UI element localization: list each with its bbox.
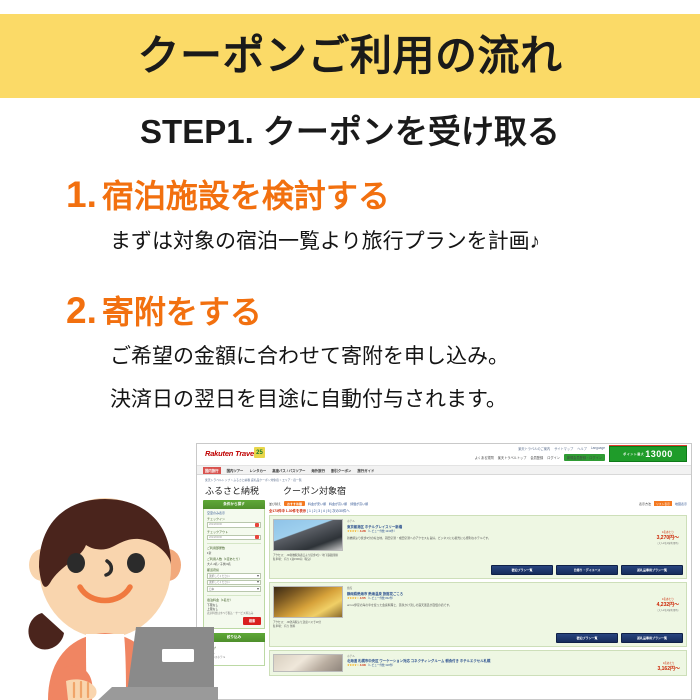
rakuten-travel-logo: Rakuten Travel xyxy=(205,449,256,458)
review-count[interactable]: （レビュー件数 318件） xyxy=(366,664,394,667)
rating-score: 4.28 xyxy=(360,529,366,533)
step-heading: STEP1. クーポンを受け取る xyxy=(0,112,700,152)
card-button-row: 宿泊プラン一覧 日帰り・デイユース 返礼品専用プラン一覧 xyxy=(273,565,683,575)
view-active[interactable]: リスト表示 xyxy=(654,501,672,506)
header-sub-links: よくある質問 楽天トラベルトップ 会員登録 ログイン 新規会員登録・ログイン xyxy=(475,454,605,461)
step-2-label: 寄附をする xyxy=(102,296,262,328)
step-2-number: 2. xyxy=(66,292,97,329)
hotel-description: источ伊豆の海の幸を使った会席料理と、源泉かけ流しの露天風呂が自慢の宿です。 xyxy=(347,603,683,607)
hotel-type-tag: ホテル xyxy=(347,654,683,658)
nav-item-1[interactable]: 国内ツアー xyxy=(227,468,244,473)
nav-item-2[interactable]: レンタカー xyxy=(249,468,266,473)
search-button[interactable]: 検索 xyxy=(243,617,261,625)
price-value: 3,270円～ xyxy=(656,534,680,541)
reward-plans-button[interactable]: 返礼品専用プラン一覧 xyxy=(621,565,683,575)
step-1-row: 1. 宿泊施設を検討する xyxy=(0,176,700,213)
rating-row: ★★★★☆ 4.28 （レビュー件数 1234件） xyxy=(347,529,683,533)
anniversary-badge: 25 xyxy=(254,447,265,458)
hotel-type-tag: 旅館 xyxy=(347,586,683,590)
chevron-down-icon xyxy=(257,588,259,590)
step-1-description: まずは対象の宿泊一覧より旅行プランを計画♪ xyxy=(0,227,700,257)
sort-label: 並び替え xyxy=(269,502,281,506)
review-count[interactable]: （レビュー件数 842件） xyxy=(366,597,394,600)
hotel-meta: アクセス： JR熱海駅より送迎バスで10分 駐車場： 有り 無料 xyxy=(273,621,683,629)
laptop-screen-glare xyxy=(162,649,194,662)
parking-info: 駐車場： 有り 1泊1500円（税込） xyxy=(273,558,683,562)
price-value: 3,162円～ xyxy=(657,665,680,672)
sub-link-3[interactable]: ログイン xyxy=(547,455,560,460)
global-nav: 国内旅行 国内ツアー レンタカー 高速バス / バスツアー 海外旅行 割引クーポ… xyxy=(197,466,691,475)
sub-link-0[interactable]: よくある質問 xyxy=(475,455,494,460)
parking-info: 駐車場： 有り 無料 xyxy=(273,625,683,629)
sub-link-1[interactable]: 楽天トラベルトップ xyxy=(498,455,527,460)
top-link-0[interactable]: 楽天トラベルのご案内 xyxy=(518,446,550,451)
result-count: 全173件中 1-30件を表示 xyxy=(269,509,306,513)
sort-row: 並び替え おすすめ順 料金が安い順 料金が高い順 評価が高い順 表示方法 リスト… xyxy=(269,500,687,507)
step-1-label: 宿泊施設を検討する xyxy=(102,180,390,212)
price-block: 1名あたり 4,232円～ （大人2名1室利用時） xyxy=(656,597,680,612)
hotel-description: 新橋駅より徒歩3分の好立地。羽田空港・成田空港へのアクセスも良好。ビジネスにも観… xyxy=(347,536,683,540)
hotel-meta: アクセス： JR新橋駅烏森口より徒歩3分／地下鉄銀座線 駐車場： 有り 1泊15… xyxy=(273,554,683,562)
price-value: 4,232円～ xyxy=(656,601,680,608)
point-badge-label: ポイント最大 xyxy=(623,452,644,456)
card-top: ホテル 北海道 札幌市中央区 ワーケーション対応 コネクティングルーム 朝食付き… xyxy=(273,654,683,672)
sort-active[interactable]: おすすめ順 xyxy=(284,501,305,506)
results-main: 並び替え おすすめ順 料金が安い順 料金が高い順 評価が高い順 表示方法 リスト… xyxy=(269,500,687,679)
browser-screenshot-mock: Rakuten Travel 25 楽天トラベルのご案内 サイトマップ ヘルプ … xyxy=(196,443,692,700)
hotel-thumbnail[interactable] xyxy=(273,519,343,551)
plans-button[interactable]: 宿泊プラン一覧 xyxy=(491,565,553,575)
chevron-down-icon xyxy=(257,581,259,583)
chevron-down-icon xyxy=(257,575,259,577)
nav-item-0[interactable]: 国内旅行 xyxy=(203,467,221,474)
card-info: 旅館 静岡県熱海市 熱海温泉 旅館花ごころ ★★★★☆ 4.55 （レビュー件数… xyxy=(347,586,683,618)
top-link-3[interactable]: Language xyxy=(591,446,605,451)
hotel-thumbnail[interactable] xyxy=(273,586,343,618)
sub-link-2[interactable]: 会員登録 xyxy=(530,455,543,460)
sort-option-0[interactable]: 料金が安い順 xyxy=(308,502,326,506)
page-root: クーポンご利用の流れ STEP1. クーポンを受け取る 1. 宿泊施設を検討する… xyxy=(0,0,700,700)
result-count-row: 全173件中 1-30件を表示 [ 1 | 2 | 3 | 4 | 5 ] 次の… xyxy=(269,507,687,515)
laptop-base xyxy=(98,687,218,700)
step-2-description-line-1: ご希望の金額に合わせて寄附を申し込み。 xyxy=(0,342,700,372)
calendar-icon[interactable] xyxy=(255,535,259,539)
plans-button[interactable]: 宿泊プラン一覧 xyxy=(556,633,618,643)
star-rating-icon: ★★★★☆ xyxy=(347,596,359,600)
top-link-1[interactable]: サイトマップ xyxy=(554,446,573,451)
dayuse-button[interactable]: 日帰り・デイユース xyxy=(556,565,618,575)
eye-right-icon xyxy=(127,553,145,573)
step-1-number: 1. xyxy=(66,176,97,213)
rating-score: 4.55 xyxy=(360,596,366,600)
hotel-type-tag: ホテル xyxy=(347,519,683,523)
content-body: 条件から探す 空室のみ表示 チェックイン 2024/00/00 チェックアウト … xyxy=(197,500,691,679)
page-title-row: ふるさと納税 クーポン対象宿 xyxy=(197,482,691,500)
eye-left-icon xyxy=(67,553,85,573)
step-2-block: 2. 寄附をする ご希望の金額に合わせて寄附を申し込み。 決済日の翌日を目途に自… xyxy=(0,292,700,415)
nav-item-6[interactable]: 旅行ガイド xyxy=(357,468,374,473)
ponytail-icon xyxy=(28,613,64,649)
rating-score: 4.08 xyxy=(360,663,366,667)
view-switch: 表示方法 リスト表示 地図表示 xyxy=(639,501,687,506)
rating-row: ★★★★☆ 4.08 （レビュー件数 318件） xyxy=(347,663,683,667)
step-1-block: 1. 宿泊施設を検討する まずは対象の宿泊一覧より旅行プランを計画♪ xyxy=(0,176,700,257)
price-note: （大人2名1室利用時） xyxy=(656,541,680,545)
price-block: 1名あたり 3,162円～ xyxy=(657,661,680,672)
nav-item-5[interactable]: 割引クーポン xyxy=(331,468,351,473)
hotel-card[interactable]: ホテル 東京都港区 ホテルグレイスリー新橋 ★★★★☆ 4.28 （レビュー件数… xyxy=(269,515,687,579)
pagination[interactable]: [ 1 | 2 | 3 | 4 | 5 ] 次の30件へ xyxy=(307,509,350,513)
header-banner: クーポンご利用の流れ xyxy=(0,14,700,98)
card-top: ホテル 東京都港区 ホテルグレイスリー新橋 ★★★★☆ 4.28 （レビュー件数… xyxy=(273,519,683,551)
rating-row: ★★★★☆ 4.55 （レビュー件数 842件） xyxy=(347,596,683,600)
view-label: 表示方法 xyxy=(639,502,651,506)
price-block: 1名あたり 3,270円～ （大人2名1室利用時） xyxy=(656,530,680,545)
breadcrumb[interactable]: 楽天トラベルトップ > ふるさと納税 返礼品クーポン対象宿 > エリア・宿一覧 xyxy=(197,475,691,482)
sort-option-2[interactable]: 評価が高い順 xyxy=(350,502,368,506)
hotel-card[interactable]: ホテル 北海道 札幌市中央区 ワーケーション対応 コネクティングルーム 朝食付き… xyxy=(269,650,687,676)
sort-option-1[interactable]: 料金が高い順 xyxy=(329,502,347,506)
top-link-2[interactable]: ヘルプ xyxy=(577,446,587,451)
reward-plans-button[interactable]: 返礼品専用プラン一覧 xyxy=(621,633,683,643)
calendar-icon[interactable] xyxy=(255,523,259,527)
nav-item-3[interactable]: 高速バス / バスツアー xyxy=(272,468,305,473)
view-other[interactable]: 地図表示 xyxy=(675,502,687,506)
register-login-button[interactable]: 新規会員登録・ログイン xyxy=(564,454,605,461)
step-2-description-line-2: 決済日の翌日を目途に自動付与されます。 xyxy=(0,385,700,415)
illustration-woman-at-laptop xyxy=(8,495,218,700)
card-info: ホテル 東京都港区 ホテルグレイスリー新橋 ★★★★☆ 4.28 （レビュー件数… xyxy=(347,519,683,551)
header-top-links: 楽天トラベルのご案内 サイトマップ ヘルプ Language xyxy=(518,446,605,451)
review-count[interactable]: （レビュー件数 1234件） xyxy=(366,530,396,533)
rakuten-header: Rakuten Travel 25 楽天トラベルのご案内 サイトマップ ヘルプ … xyxy=(197,444,691,466)
point-badge: ポイント最大 13000 xyxy=(609,446,687,462)
hotel-thumbnail[interactable] xyxy=(273,654,343,672)
nav-item-4[interactable]: 海外旅行 xyxy=(311,468,325,473)
card-top: 旅館 静岡県熱海市 熱海温泉 旅館花ごころ ★★★★☆ 4.55 （レビュー件数… xyxy=(273,586,683,618)
hotel-card[interactable]: 旅館 静岡県熱海市 熱海温泉 旅館花ごころ ★★★★☆ 4.55 （レビュー件数… xyxy=(269,582,687,646)
page-title: クーポンご利用の流れ xyxy=(137,35,562,77)
step-2-row: 2. 寄附をする xyxy=(0,292,700,329)
price-note: （大人2名1室利用時） xyxy=(656,608,680,612)
card-info: ホテル 北海道 札幌市中央区 ワーケーション対応 コネクティングルーム 朝食付き… xyxy=(347,654,683,672)
star-rating-icon: ★★★★☆ xyxy=(347,529,359,533)
point-badge-value: 13000 xyxy=(645,449,673,459)
star-rating-icon: ★★★★☆ xyxy=(347,663,359,667)
card-button-row: 宿泊プラン一覧 返礼品専用プラン一覧 xyxy=(273,633,683,643)
coupon-target-label: クーポン対象宿 xyxy=(283,484,346,497)
